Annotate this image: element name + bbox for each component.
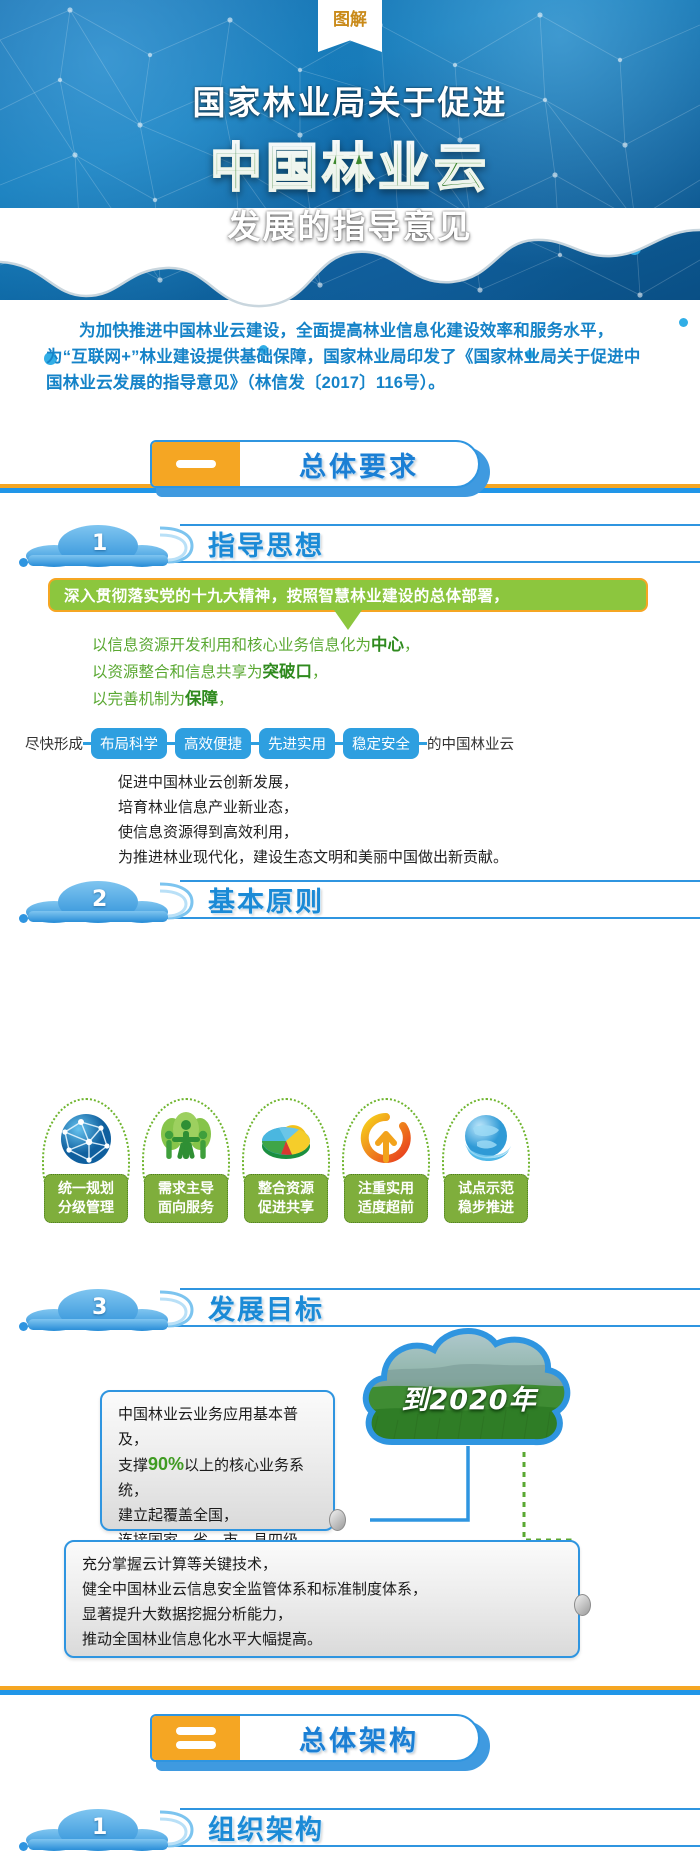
green-line-prefix: 以资源整合和信息共享为 <box>92 664 263 681</box>
goal-connector-knob-1 <box>329 1509 346 1531</box>
principle-label-line1: 整合资源 <box>245 1179 327 1198</box>
section-banner-two[interactable]: 总体架构 <box>150 1714 490 1768</box>
green-line: 以信息资源开发利用和核心业务信息化为中心， <box>92 632 420 659</box>
cloud-badge-4: 1 <box>24 1806 172 1852</box>
circular-arrow-icon <box>359 1112 413 1166</box>
section-numeral-one <box>152 442 240 486</box>
subsection-title-org-structure: 组织架构 <box>208 1808 324 1847</box>
principle-item-4[interactable]: 注重实用 适度超前 <box>336 1098 436 1240</box>
dark-line: 使信息资源得到高效利用， <box>118 820 508 845</box>
goal-line: 显著提升大数据挖掘分析能力， <box>82 1602 562 1627</box>
tag-connector <box>167 742 175 745</box>
subsection-number-1: 1 <box>92 1815 107 1840</box>
cloud-badge-3: 3 <box>24 1286 172 1332</box>
basic-principles-row: 统一规划 分级管理 <box>36 1098 536 1240</box>
tag-pill-2[interactable]: 高效便捷 <box>175 728 251 759</box>
goal-line-prefix: 支撑 <box>118 1457 148 1474</box>
ribbon-label: 图解 <box>333 5 367 30</box>
green-line-suffix: ， <box>312 664 328 681</box>
principle-label-line2: 稳步推进 <box>445 1198 527 1217</box>
tag-pill-4[interactable]: 稳定安全 <box>343 728 419 759</box>
ribbon-swirl-icon <box>152 1286 200 1332</box>
tag-connector <box>419 742 427 745</box>
principle-label-5: 试点示范 稳步推进 <box>444 1174 528 1223</box>
principle-label-line2: 适度超前 <box>345 1198 427 1217</box>
principle-label-line1: 试点示范 <box>445 1179 527 1198</box>
subsection-title-development-goals: 发展目标 <box>208 1288 324 1327</box>
subsection-development-goals: 3 发展目标 <box>0 1280 700 1342</box>
section-divider <box>0 1686 700 1695</box>
section-title-one: 总体要求 <box>240 445 478 484</box>
principle-item-1[interactable]: 统一规划 分级管理 <box>36 1098 136 1240</box>
principle-label-1: 统一规划 分级管理 <box>44 1174 128 1223</box>
dark-line: 为推进林业现代化，建设生态文明和美丽中国做出新贡献。 <box>118 845 508 870</box>
principle-label-2: 需求主导 面向服务 <box>144 1174 228 1223</box>
guiding-thought-callout: 深入贯彻落实党的十九大精神，按照智慧林业建设的总体部署， <box>48 578 648 612</box>
hero-title-line1: 国家林业局关于促进 <box>0 76 700 124</box>
subsection-number-1: 1 <box>92 531 107 556</box>
guiding-thought-dark-lines: 促进中国林业云创新发展， 培育林业信息产业新业态， 使信息资源得到高效利用， 为… <box>118 770 508 870</box>
ribbon-swirl-icon <box>152 1806 200 1852</box>
numeral-bar <box>176 1741 216 1749</box>
principle-label-line2: 促进共享 <box>245 1198 327 1217</box>
green-line-prefix: 以完善机制为 <box>92 691 185 708</box>
cloud-badge-2: 2 <box>24 878 172 924</box>
goal-line: 支撑90%以上的核心业务系统， <box>118 1452 317 1503</box>
hero-title-line2: 中国林业云 <box>0 126 700 201</box>
pie-chart-icon <box>259 1112 313 1166</box>
cloud-badge-1: 1 <box>24 522 172 568</box>
tag-connector <box>83 742 91 745</box>
banner-body: 总体架构 <box>150 1714 480 1762</box>
principle-label-line1: 需求主导 <box>145 1179 227 1198</box>
goal-connector-knob-2 <box>574 1594 591 1616</box>
hero-title-line3: 发展的指导意见 <box>0 200 700 248</box>
tag-row-lead: 尽快形成 <box>25 733 83 754</box>
green-line-suffix: ， <box>404 637 420 654</box>
section-banner-one[interactable]: 总体要求 <box>150 440 490 494</box>
principle-label-line2: 面向服务 <box>145 1198 227 1217</box>
subsection-guiding-thought: 1 指导思想 <box>0 516 700 578</box>
goal-line-strong: 90% <box>148 1454 184 1474</box>
divider-blue-bar <box>0 1690 700 1695</box>
subsection-number-2: 2 <box>92 887 107 912</box>
subsection-basic-principles: 2 基本原则 <box>0 872 700 934</box>
globe-network-icon <box>59 1112 113 1166</box>
dark-line: 培育林业信息产业新业态， <box>118 795 508 820</box>
tag-connector <box>251 742 259 745</box>
principle-label-3: 整合资源 促进共享 <box>244 1174 328 1223</box>
principle-item-5[interactable]: 试点示范 稳步推进 <box>436 1098 536 1240</box>
subsection-org-structure: 1 组织架构 <box>0 1800 700 1862</box>
principle-item-3[interactable]: 整合资源 促进共享 <box>236 1098 336 1240</box>
tag-row: 尽快形成 布局科学 高效便捷 先进实用 稳定安全 的中国林业云 <box>25 728 514 759</box>
ribbon-swirl-icon <box>152 522 200 568</box>
dark-line: 促进中国林业云创新发展， <box>118 770 508 795</box>
principle-item-2[interactable]: 需求主导 面向服务 <box>136 1098 236 1240</box>
globe-swoosh-icon <box>459 1112 513 1166</box>
green-line-strong: 突破口 <box>263 663 313 681</box>
principle-label-line2: 分级管理 <box>45 1198 127 1217</box>
banner-body: 总体要求 <box>150 440 480 488</box>
guiding-thought-green-lines: 以信息资源开发利用和核心业务信息化为中心， 以资源整合和信息共享为突破口， 以完… <box>92 632 420 713</box>
green-line: 以完善机制为保障， <box>92 686 420 713</box>
subsection-title-guiding-thought: 指导思想 <box>208 524 324 563</box>
numeral-bar <box>176 1727 216 1735</box>
subsection-number-3: 3 <box>92 1295 107 1320</box>
infographic-page: 图解 国家林业局关于促进 中国林业云 发展的指导意见 为加快推进中国林业云建设，… <box>0 0 700 1867</box>
principle-label-4: 注重实用 适度超前 <box>344 1174 428 1223</box>
callout-tail <box>334 610 362 630</box>
numeral-bar <box>176 460 216 468</box>
goal-line: 充分掌握云计算等关键技术， <box>82 1552 562 1577</box>
goal-line: 推动全国林业信息化水平大幅提高。 <box>82 1627 562 1652</box>
callout-text: 深入贯彻落实党的十九大精神，按照智慧林业建设的总体部署， <box>64 584 509 606</box>
people-trees-icon <box>159 1112 213 1166</box>
principle-label-line1: 注重实用 <box>345 1179 427 1198</box>
development-goal-box-2: 充分掌握云计算等关键技术， 健全中国林业云信息安全监管体系和标准制度体系， 显著… <box>64 1540 580 1658</box>
green-line-suffix: ， <box>218 691 234 708</box>
development-goal-box-1: 中国林业云业务应用基本普及， 支撑90%以上的核心业务系统， 建立起覆盖全国， … <box>100 1390 335 1531</box>
green-line-strong: 中心 <box>371 636 404 654</box>
ribbon-swirl-icon <box>152 878 200 924</box>
green-line: 以资源整合和信息共享为突破口， <box>92 659 420 686</box>
tag-pill-1[interactable]: 布局科学 <box>91 728 167 759</box>
tag-row-trail: 的中国林业云 <box>427 733 514 754</box>
green-line-strong: 保障 <box>185 690 218 708</box>
tag-connector <box>335 742 343 745</box>
section-title-two: 总体架构 <box>240 1719 478 1758</box>
tag-pill-3[interactable]: 先进实用 <box>259 728 335 759</box>
goal-line: 建立起覆盖全国， <box>118 1503 317 1528</box>
subsection-title-basic-principles: 基本原则 <box>208 880 324 919</box>
principle-label-line1: 统一规划 <box>45 1179 127 1198</box>
goal-line: 健全中国林业云信息安全监管体系和标准制度体系， <box>82 1577 562 1602</box>
green-line-prefix: 以信息资源开发利用和核心业务信息化为 <box>92 637 371 654</box>
goal-line: 中国林业云业务应用基本普及， <box>118 1402 317 1452</box>
section-numeral-two <box>152 1716 240 1760</box>
